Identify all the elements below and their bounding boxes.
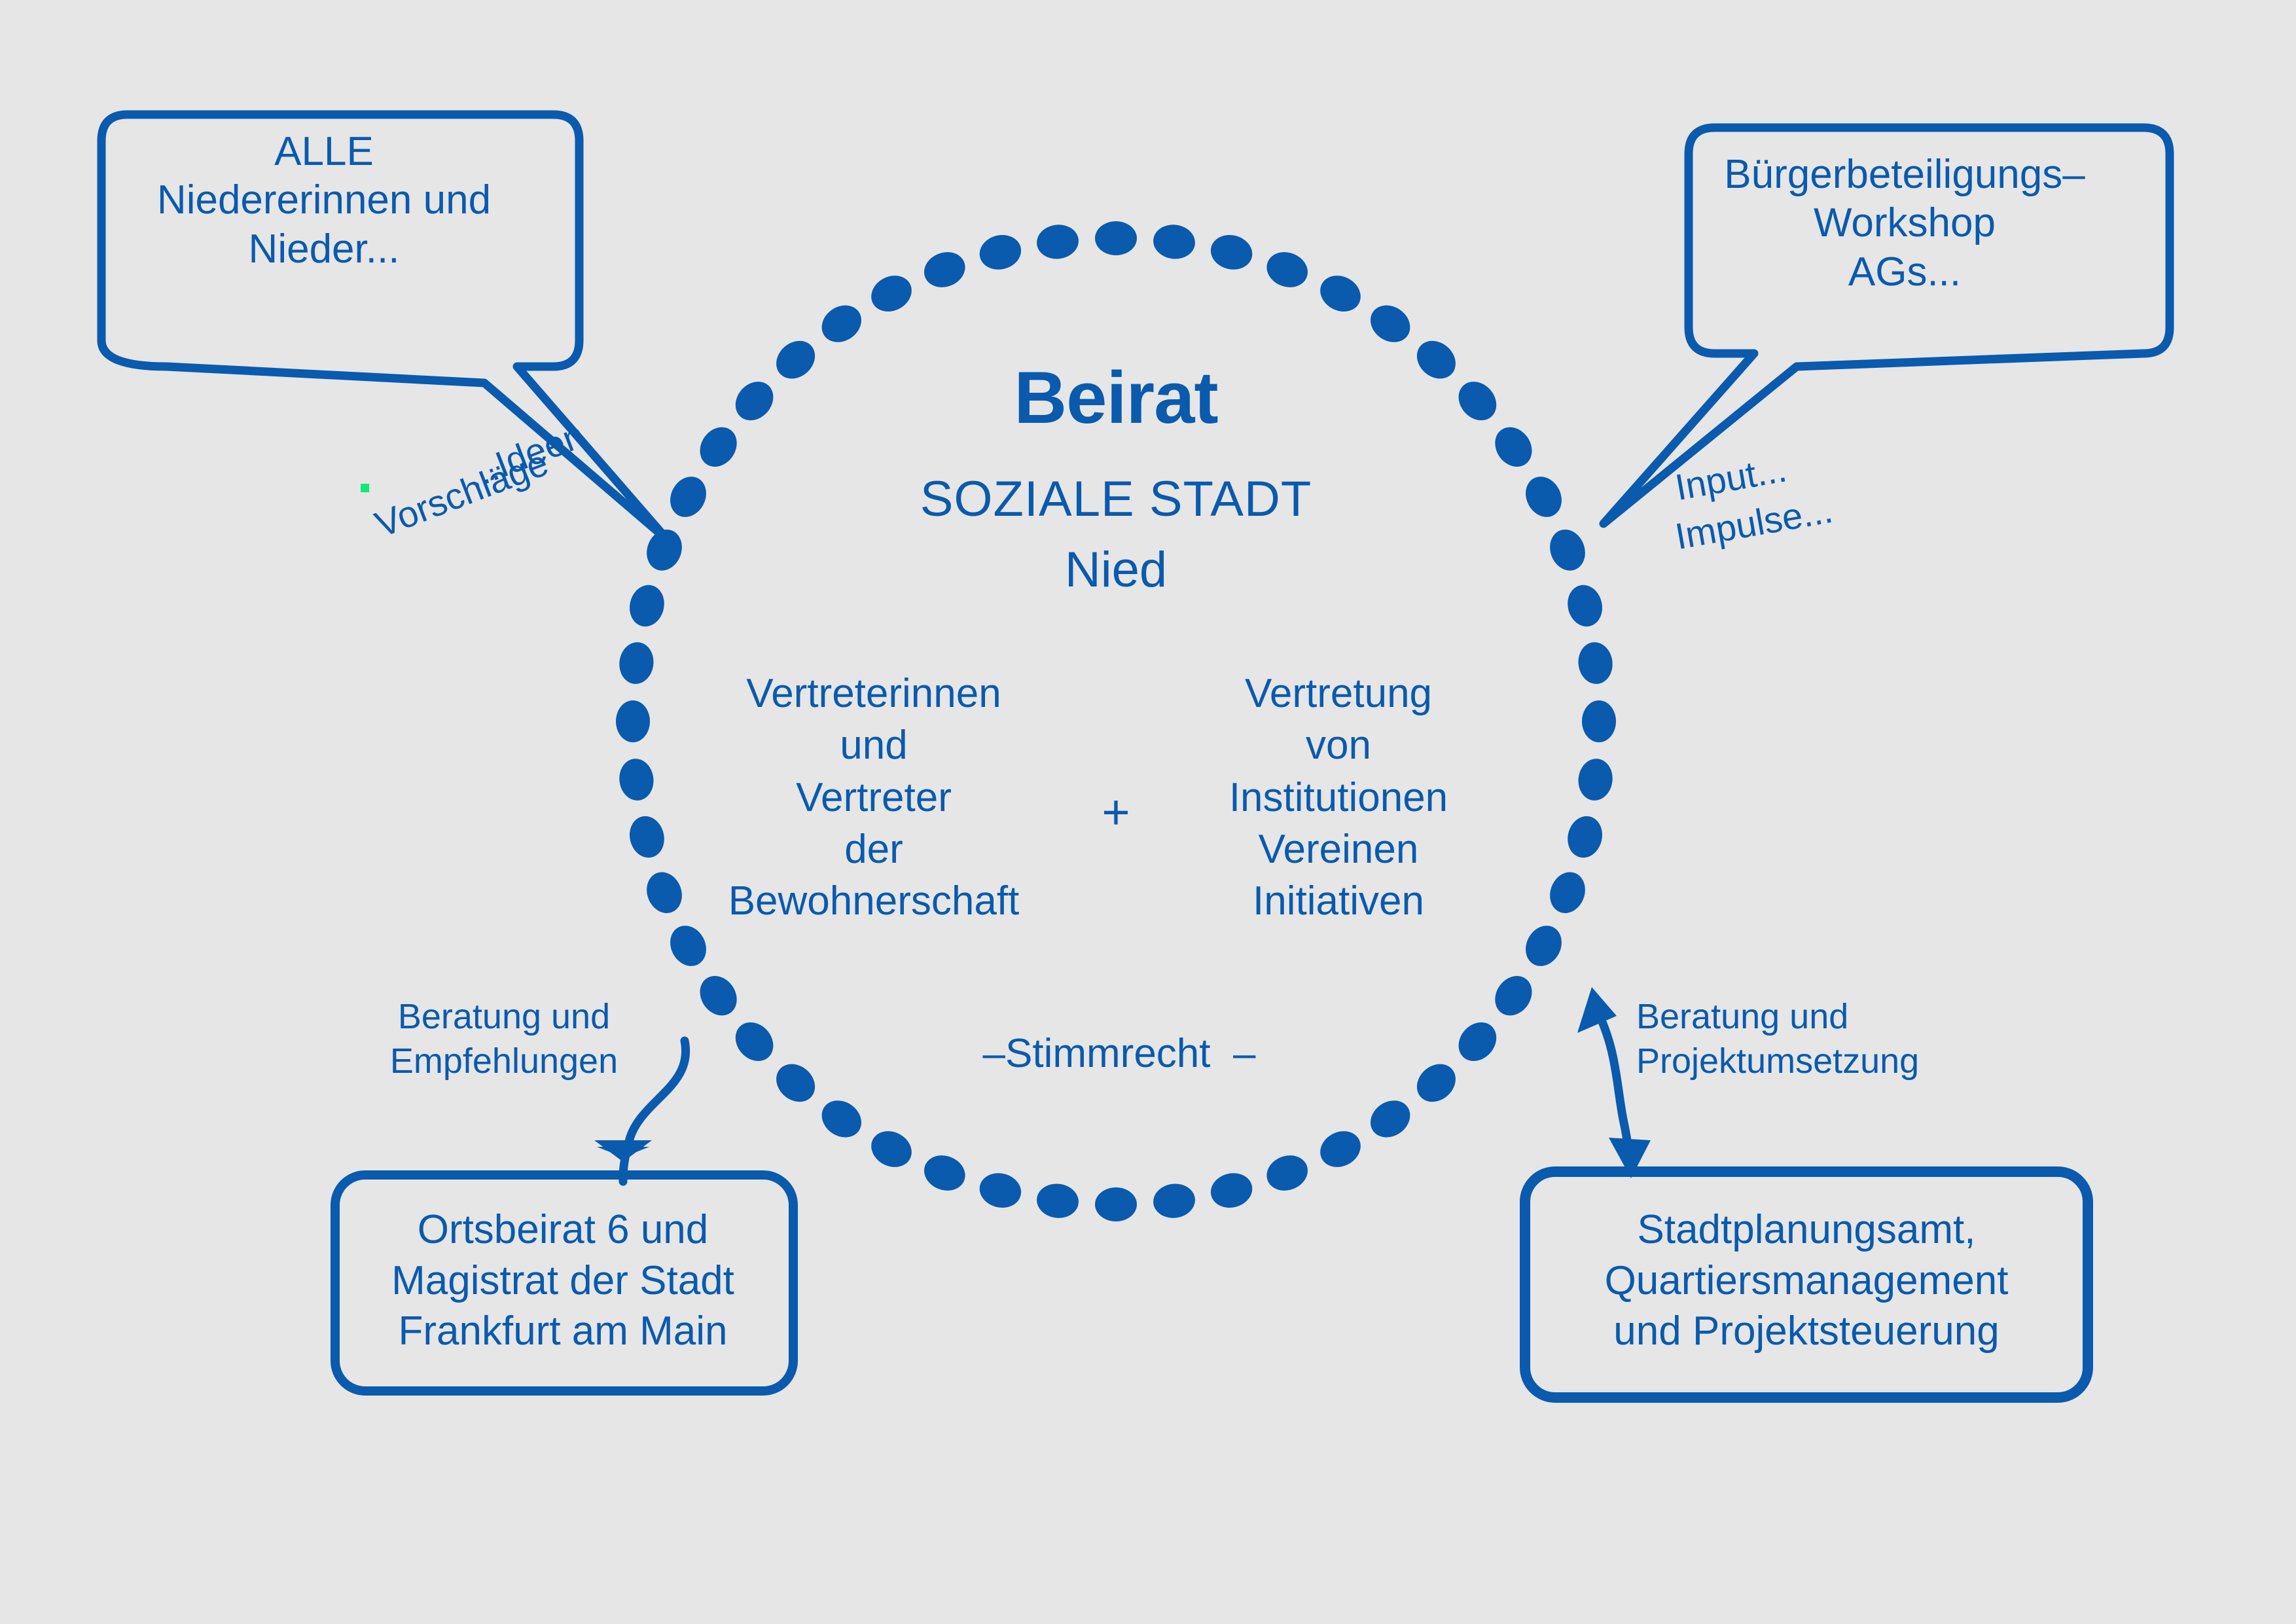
center-subtitle: SOZIALE STADT [828, 471, 1404, 527]
label-beratung-projektumsetzung: Beratung und Projektumsetzung [1636, 995, 1964, 1083]
box-left-label: Ortsbeirat 6 und Magistrat der Stadt Fra… [334, 1204, 792, 1357]
bubble-right-label: Bürgerbeteiligungs– Workshop AGs... [1676, 151, 2134, 297]
plus-operator: + [1073, 785, 1158, 840]
center-title: Beirat [828, 357, 1404, 439]
box-right-label: Stadtplanungsamt, Quartiersmanagement un… [1532, 1204, 2081, 1357]
voting-note: –Stimmrecht – [916, 1031, 1322, 1076]
center-district: Nied [828, 542, 1404, 598]
center-right-column: Vertretung von Institutionen Vereinen In… [1198, 668, 1479, 928]
bubble-left-label: ALLE Niedererinnen und Nieder... [92, 128, 556, 274]
center-left-column: Vertreterinnen und Vertreter der Bewohne… [710, 668, 1037, 928]
ring-dot [1095, 221, 1137, 255]
ring-dot [1582, 700, 1616, 742]
ring-dot [616, 700, 650, 742]
diagram-canvas: ALLE Niedererinnen und Nieder... Bürgerb… [0, 0, 2296, 1624]
label-beratung-empfehlungen: Beratung und Empfehlungen [367, 995, 641, 1083]
green-marker-dot [361, 484, 369, 492]
ring-dot [1095, 1187, 1137, 1221]
